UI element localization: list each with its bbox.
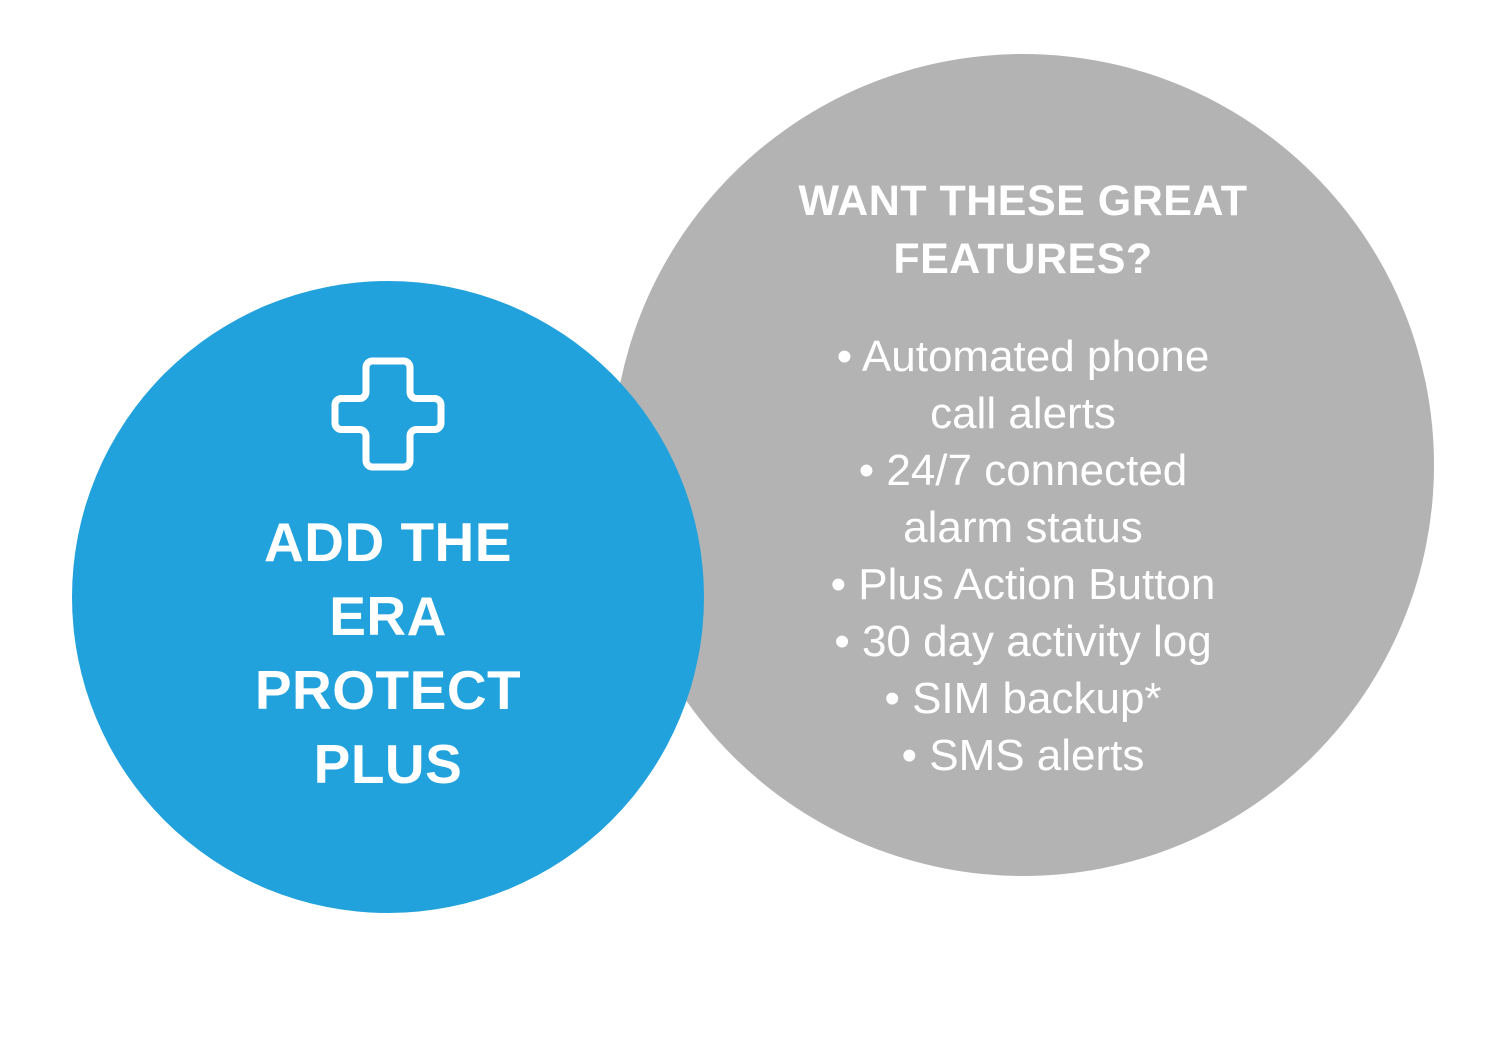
list-item: • SMS alerts [673,727,1373,784]
diagram-canvas: WANT THESE GREAT FEATURES? • Automated p… [0,0,1500,1061]
list-item: • 30 day activity log [673,613,1373,670]
list-item: • Automated phone call alerts [673,328,1373,442]
list-item: • SIM backup* [673,670,1373,727]
cta-circle: ADD THE ERA PROTECT PLUS [72,281,704,913]
features-circle: WANT THESE GREAT FEATURES? • Automated p… [612,54,1434,876]
cta-title: ADD THE ERA PROTECT PLUS [108,505,668,801]
features-heading: WANT THESE GREAT FEATURES? [693,172,1353,288]
features-list: • Automated phone call alerts • 24/7 con… [673,328,1373,784]
list-item: • Plus Action Button [673,556,1373,613]
plus-icon [329,355,447,473]
features-content: WANT THESE GREAT FEATURES? • Automated p… [612,54,1434,876]
list-item: • 24/7 connected alarm status [673,442,1373,556]
cta-content: ADD THE ERA PROTECT PLUS [72,281,704,913]
